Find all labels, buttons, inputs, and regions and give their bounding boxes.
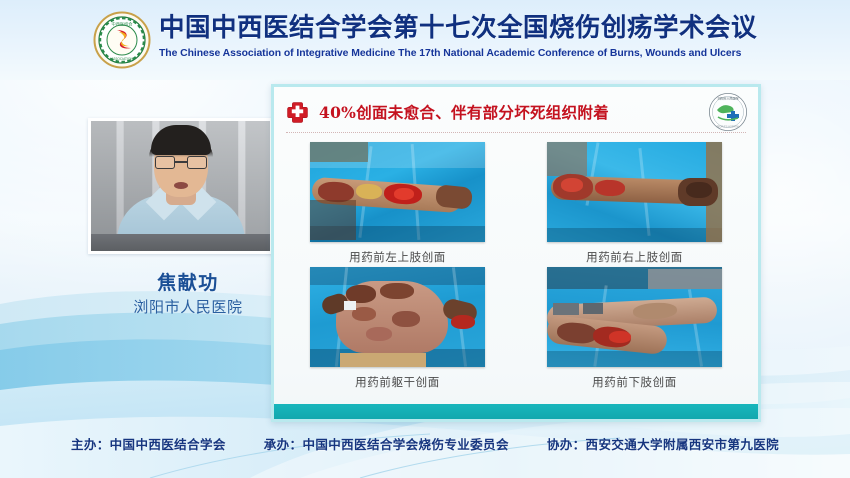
clinical-photo-grid: 用药前左上肢创面	[286, 142, 746, 390]
clinical-photo-trunk[interactable]	[310, 267, 485, 367]
slide-accent-bar	[274, 404, 758, 419]
clinical-photo-right-upper-limb[interactable]	[547, 142, 722, 242]
footer-bar: 主办：中国中西医结合学会 承办：中国中西医结合学会烧伤专业委员会 协办：西安交通…	[0, 420, 850, 478]
svg-text:ASSOCIATION: ASSOCIATION	[111, 57, 133, 61]
slide-header: 40%创面未愈合、伴有部分坏死组织附着 浏阳市人民医院 PEOPLE'S HOS…	[286, 96, 746, 128]
photo-cell: 用药前躯干创面	[286, 267, 509, 390]
red-cross-icon	[286, 101, 309, 124]
video-foreground-desk	[91, 234, 270, 251]
footer-item-coorganizer: 协办：西安交通大学附属西安市第九医院	[547, 434, 779, 453]
clinical-photo-left-upper-limb[interactable]	[310, 142, 485, 242]
hospital-emblem-logo: 浏阳市人民医院 PEOPLE'S HOSPITAL	[708, 92, 748, 132]
svg-text:PEOPLE'S HOSPITAL: PEOPLE'S HOSPITAL	[717, 125, 740, 128]
speaker-name: 焦献功	[88, 268, 288, 295]
slide-panel[interactable]: 40%创面未愈合、伴有部分坏死组织附着 浏阳市人民医院 PEOPLE'S HOS…	[271, 84, 761, 422]
photo-caption: 用药前右上肢创面	[523, 249, 746, 265]
svg-text:中西医结合: 中西医结合	[112, 20, 134, 27]
presentation-stage: 中西医结合 ASSOCIATION 中国中西医结合学会第十七次全国烧伤创疡学术会…	[0, 0, 850, 478]
slide-title: 40%创面未愈合、伴有部分坏死组织附着	[319, 101, 609, 123]
photo-caption: 用药前躯干创面	[286, 374, 509, 390]
speaker-webcam-feed[interactable]	[91, 121, 270, 251]
conference-header-band: 中西医结合 ASSOCIATION 中国中西医结合学会第十七次全国烧伤创疡学术会…	[0, 0, 850, 80]
photo-cell: 用药前下肢创面	[523, 267, 746, 390]
photo-caption: 用药前左上肢创面	[286, 249, 509, 265]
slide-title-divider	[286, 132, 746, 133]
conference-title-en: The Chinese Association of Integrative M…	[159, 47, 757, 61]
speaker-organization: 浏阳市人民医院	[82, 296, 294, 317]
caim-emblem-logo: 中西医结合 ASSOCIATION	[93, 11, 151, 69]
speaker-video-panel[interactable]	[88, 118, 273, 254]
footer-item-host: 主办：中国中西医结合学会	[71, 434, 226, 453]
conference-title-cn: 中国中西医结合学会第十七次全国烧伤创疡学术会议	[159, 11, 757, 45]
svg-text:浏阳市人民医院: 浏阳市人民医院	[717, 95, 738, 100]
photo-cell: 用药前右上肢创面	[523, 142, 746, 265]
speaker-figure	[106, 133, 256, 245]
footer-item-organizer: 承办：中国中西医结合学会烧伤专业委员会	[264, 434, 509, 453]
photo-cell: 用药前左上肢创面	[286, 142, 509, 265]
clinical-photo-lower-limb[interactable]	[547, 267, 722, 367]
speaker-mouth	[174, 182, 188, 189]
photo-caption: 用药前下肢创面	[523, 374, 746, 390]
speaker-glasses	[155, 156, 207, 169]
